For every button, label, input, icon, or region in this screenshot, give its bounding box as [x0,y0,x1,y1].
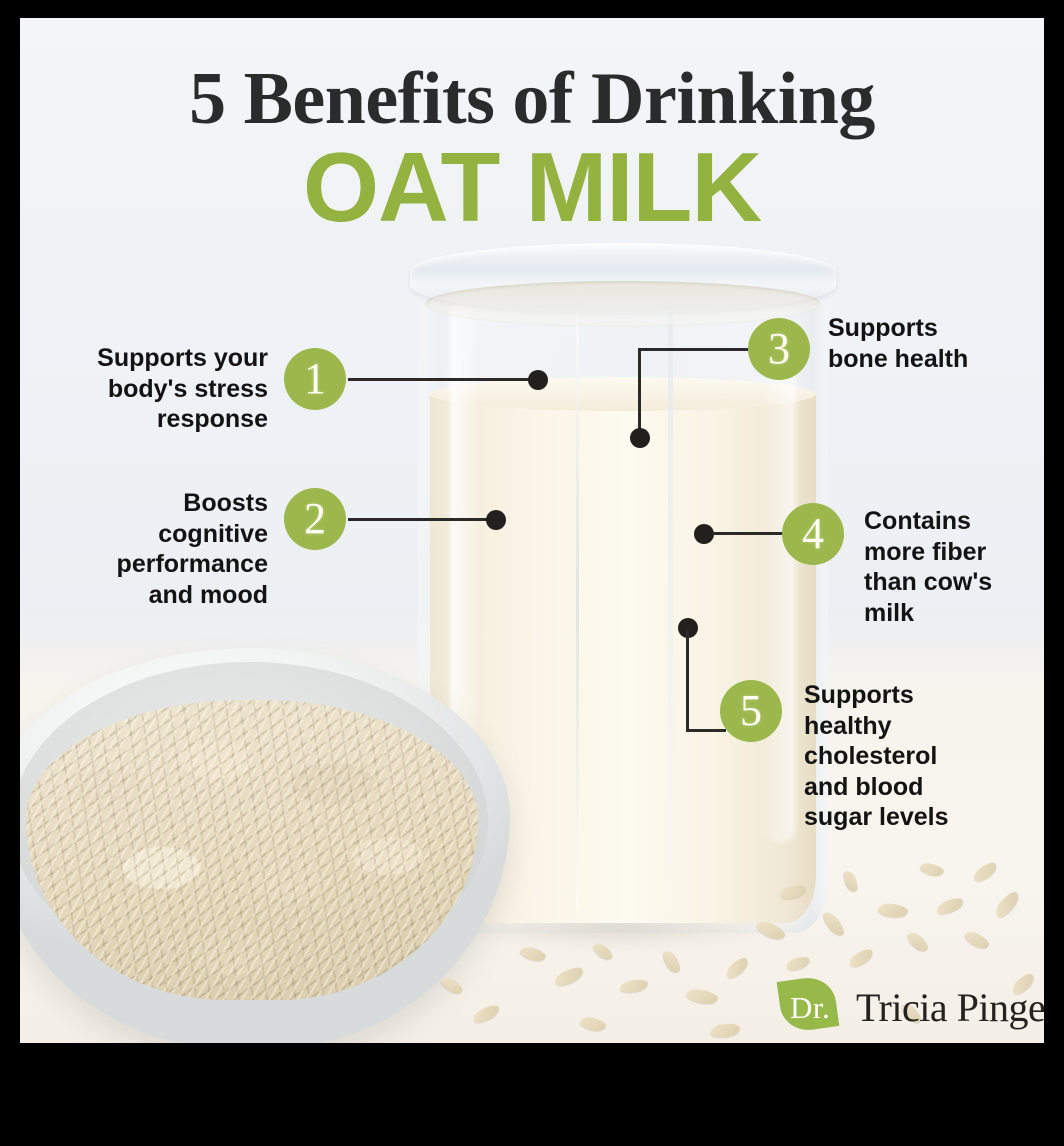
brand-logo[interactable]: Dr. Tricia Pingel [780,976,1044,1038]
callout-4-connector-dot [694,524,714,544]
callout-5-text: Supports healthy cholesterol and blood s… [804,680,1000,833]
callout-3-connector-h [638,348,748,351]
callout-3-badge[interactable]: 3 [748,318,810,380]
callout-3-text: Supports bone health [828,313,1038,374]
callout-3-connector-v [638,348,641,438]
callout-5-connector-v [686,630,689,732]
callout-1-connector-dot [528,370,548,390]
callout-5-connector-h [686,729,726,732]
callout-1-connector-line [348,378,538,381]
oat-bowl-photo [20,648,510,1043]
jar-seam-right [668,289,673,909]
jar-seam-left [576,289,579,909]
callout-4-badge[interactable]: 4 [782,503,844,565]
callout-2-text: Boosts cognitive performance and mood [60,488,268,610]
callout-2-connector-line [348,518,496,521]
logo-name: Tricia Pingel [856,984,1044,1031]
logo-prefix: Dr. [790,990,830,1026]
jar-highlight-right [762,323,796,843]
callout-1-text: Supports your body's stress response [50,343,268,435]
callout-1-badge[interactable]: 1 [284,348,346,410]
callout-2-connector-dot [486,510,506,530]
oat-milk-surface [430,377,816,411]
infographic-canvas: 5 Benefits of Drinking OAT MILK Supports… [20,18,1044,1043]
callout-4-connector-line [712,532,790,535]
callout-5-badge[interactable]: 5 [720,680,782,742]
oat-pile [26,700,478,1000]
oat-texture-b [26,700,478,1000]
jar-rim-inner [426,281,820,327]
callout-4-text: Contains more fiber than cow's milk [864,506,1044,628]
black-frame: 5 Benefits of Drinking OAT MILK Supports… [0,0,1064,1146]
callout-2-badge[interactable]: 2 [284,488,346,550]
callout-3-connector-dot [630,428,650,448]
